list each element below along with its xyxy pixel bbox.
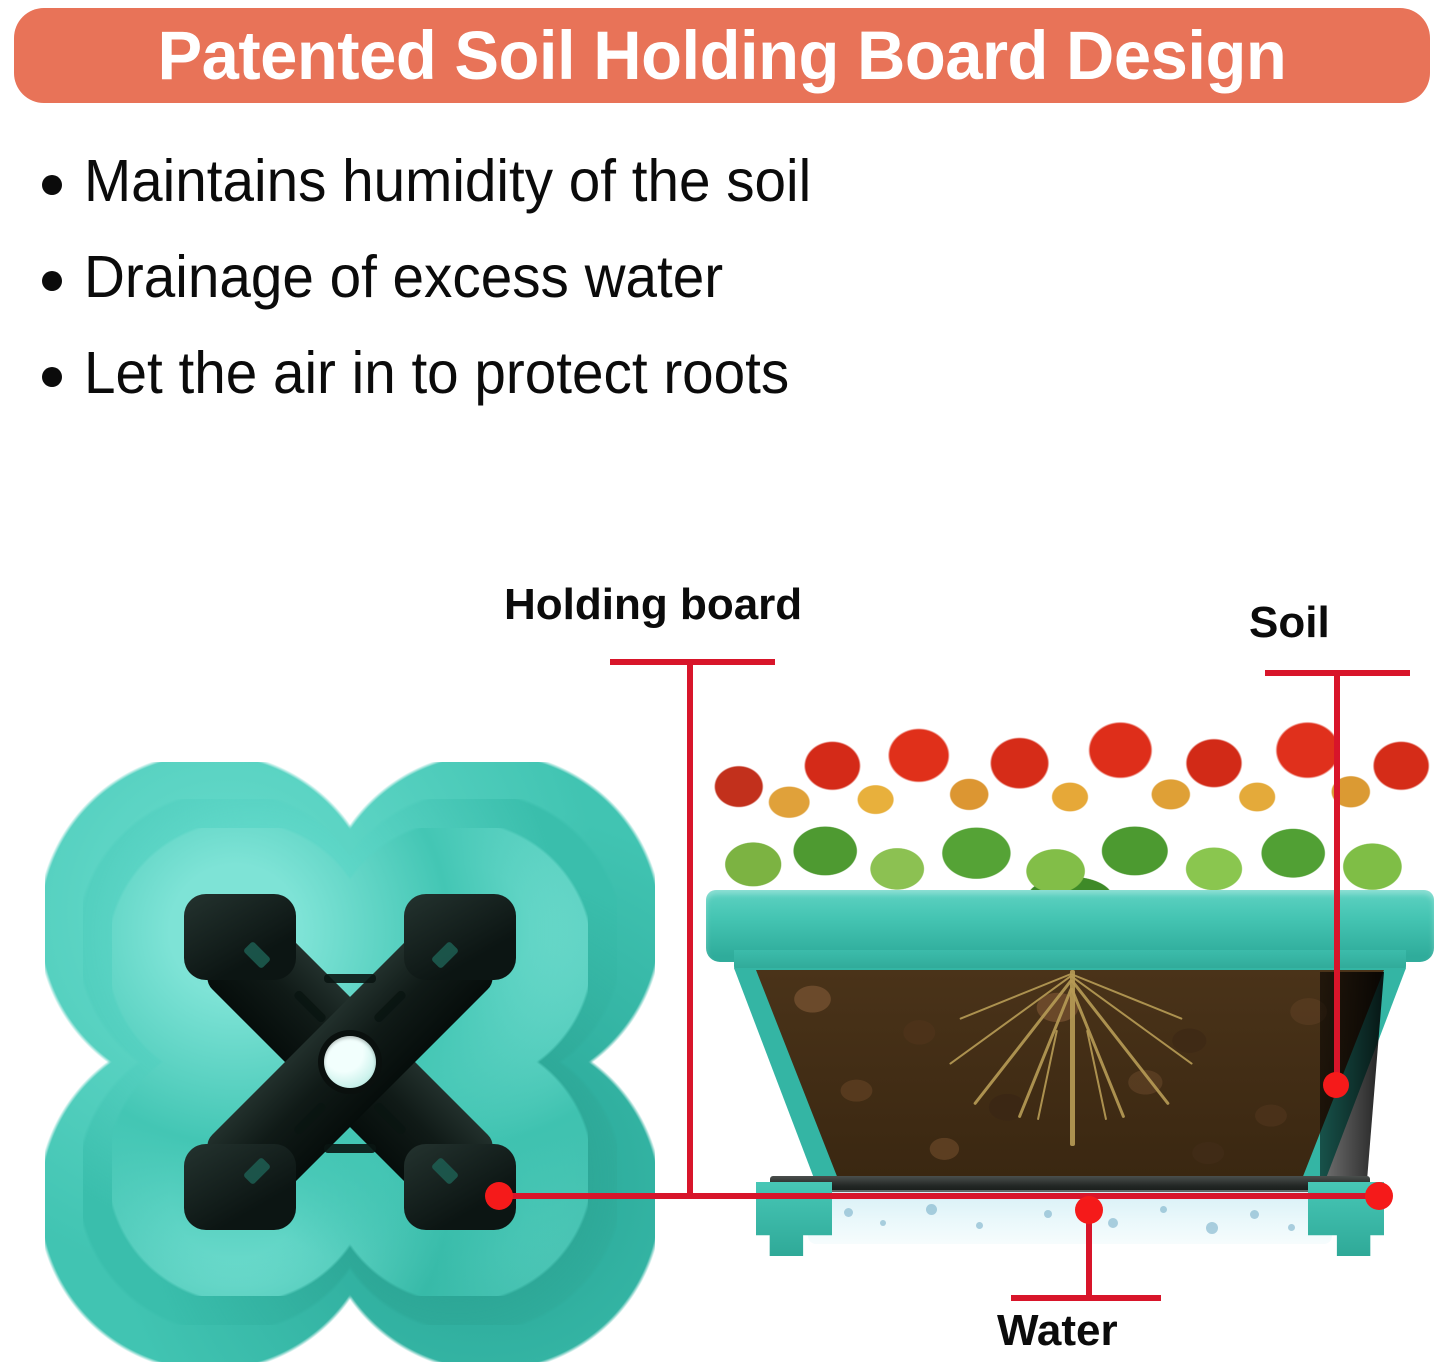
water-bubble <box>1160 1206 1167 1213</box>
soil-holding-board <box>170 882 530 1242</box>
bullet-dot-icon <box>42 175 62 195</box>
water-bubble <box>976 1222 983 1229</box>
root-strand <box>1071 973 1183 1020</box>
flower-cluster <box>710 700 1430 898</box>
center-drain-hole <box>324 1036 376 1088</box>
water-bubble <box>844 1208 853 1217</box>
callout-label-holding-board: Holding board <box>504 580 802 630</box>
title-banner: Patented Soil Holding Board Design <box>14 8 1430 103</box>
root-strand <box>959 973 1071 1020</box>
water-bubble <box>1288 1224 1295 1231</box>
water-bubble <box>1206 1222 1218 1234</box>
water-bubble <box>880 1220 886 1226</box>
feature-text: Drainage of excess water <box>84 244 723 310</box>
water-leader-tbar <box>1011 1295 1161 1301</box>
board-corner-pad <box>184 894 296 980</box>
water-bubble <box>1044 1210 1052 1218</box>
feature-text: Let the air in to protect roots <box>84 340 789 406</box>
green-foliage <box>710 786 1430 898</box>
holding-board-marker-right <box>1365 1182 1393 1210</box>
holding-board-marker-left <box>485 1182 513 1210</box>
feature-text: Maintains humidity of the soil <box>84 148 811 214</box>
water-bubble <box>926 1204 937 1215</box>
holding-board-leader-horizontal <box>497 1193 1377 1199</box>
water-reservoir <box>808 1192 1332 1244</box>
infographic-canvas: Patented Soil Holding Board Design Maint… <box>0 0 1438 1369</box>
callout-label-water: Water <box>997 1306 1118 1356</box>
root-strand <box>1086 1030 1107 1120</box>
holding-board-leader-vertical <box>687 659 693 1199</box>
callout-label-soil: Soil <box>1249 598 1330 648</box>
clover-planter-top-view <box>45 762 655 1362</box>
bullet-dot-icon <box>42 367 62 387</box>
root-strand <box>1070 975 1193 1065</box>
water-marker <box>1075 1196 1103 1224</box>
feature-list: Maintains humidity of the soil Drainage … <box>42 148 1142 436</box>
root-strand <box>973 979 1073 1105</box>
board-corner-pad <box>404 894 516 980</box>
list-item: Maintains humidity of the soil <box>42 148 1142 214</box>
board-corner-pad <box>184 1144 296 1230</box>
list-item: Drainage of excess water <box>42 244 1142 310</box>
water-bubble <box>1250 1210 1259 1219</box>
soil-leader-vertical <box>1334 670 1340 1082</box>
plant-roots <box>756 970 1384 1178</box>
board-drain-slot <box>324 974 376 983</box>
page-title: Patented Soil Holding Board Design <box>158 21 1287 90</box>
root-strand <box>1070 987 1125 1118</box>
soil-marker <box>1323 1072 1349 1098</box>
water-bubble <box>1108 1218 1118 1228</box>
board-drain-slot <box>324 1144 376 1153</box>
list-item: Let the air in to protect roots <box>42 340 1142 406</box>
bullet-dot-icon <box>42 271 62 291</box>
root-strand <box>1070 979 1170 1105</box>
